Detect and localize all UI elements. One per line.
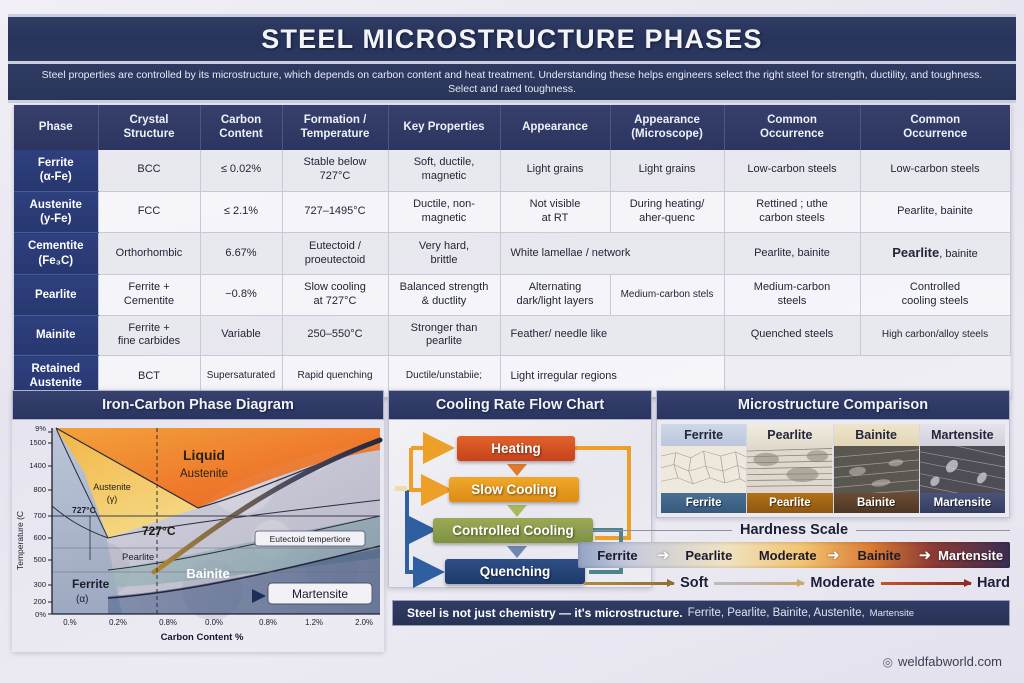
label-eutectoid-box: Eutectoid tempertiore	[255, 531, 365, 546]
cell-appearance: Not visible at RT	[500, 191, 610, 233]
table-row: Pearlite Ferrite +Cementite −0.8% Slow c…	[14, 275, 1010, 316]
hardness-scale: Hardness Scale Ferrite ➜ Pearlite Modera…	[578, 522, 1010, 594]
gradient-arrow-soft	[584, 582, 674, 585]
cell-crystal: Ferrite +Cementite	[98, 275, 200, 316]
phase-diagram-svg: 9% 1500 1400 800 700 600 500 300 200 0% …	[12, 420, 384, 652]
arrow-icon-3: ➜	[919, 546, 932, 564]
svg-text:1.2%: 1.2%	[305, 618, 323, 627]
cell-appearance: Feather/ needle like	[500, 315, 724, 356]
infographic-page: STEEL MICROSTRUCTURE PHASES Steel proper…	[0, 0, 1024, 683]
footer-phase-last: Martensite	[870, 608, 914, 619]
cell-occurrence-2: Controlled cooling steels	[860, 275, 1010, 316]
label-pearlite: Pearlite	[122, 552, 154, 563]
micro-panel-title: Microstructure Comparison	[656, 390, 1010, 420]
flow-node-slow-cooling[interactable]: Slow Cooling	[449, 477, 579, 502]
watermark: ◎ weldfabworld.com	[882, 654, 1002, 669]
hardness-seg-ferrite: Ferrite	[578, 548, 657, 563]
diagram-panel-title: Iron-Carbon Phase Diagram	[12, 390, 384, 420]
cell-properties: Balanced strength & ductlity	[388, 275, 500, 316]
cell-phase: Austenite (y-Fe)	[14, 191, 98, 233]
flow-node-controlled-cooling[interactable]: Controlled Cooling	[433, 518, 593, 543]
cell-carbon: 6.67%	[200, 233, 282, 275]
micro-cell-pearlite: Pearlite	[747, 424, 833, 513]
flow-panel-title: Cooling Rate Flow Chart	[388, 390, 652, 420]
table-row: Austenite (y-Fe) FCC ≤ 2.1% 727–1495°C D…	[14, 191, 1010, 233]
micro-top-label: Bainite	[834, 424, 919, 446]
hardness-foot-soft: Soft	[680, 575, 708, 591]
cell-phase: Ferrite (α-Fe)	[14, 150, 98, 191]
hardness-scale-title-row: Hardness Scale	[578, 522, 1010, 538]
cell-formation: Eutectoid / proeutectoid	[282, 233, 388, 275]
svg-text:0.8%: 0.8%	[259, 618, 277, 627]
footer-phase-list: Ferrite, Pearlite, Bainite, Austenite,	[688, 607, 865, 619]
cell-appearance: White lamellae / network	[500, 233, 724, 275]
svg-text:500: 500	[33, 555, 46, 564]
svg-text:200: 200	[33, 597, 46, 606]
cell-crystal: FCC	[98, 191, 200, 233]
label-ferrite-alpha: (α)	[76, 594, 88, 605]
label-727-left: 727°C	[72, 505, 96, 515]
hardness-gradient-bar: Ferrite ➜ Pearlite Moderate ➜ Bainite ➜ …	[578, 542, 1010, 568]
col-header-appearance-microscope: Appearance (Microscope)	[610, 105, 724, 150]
cell-crystal: BCC	[98, 150, 200, 191]
micro-grid: Ferrite Ferrite	[656, 420, 1010, 518]
svg-text:300: 300	[33, 580, 46, 589]
micro-cell-martensite: Martensite M	[920, 424, 1005, 513]
flow-node-heating[interactable]: Heating	[457, 436, 575, 461]
page-title: STEEL MICROSTRUCTURE PHASES	[261, 24, 762, 55]
svg-text:0.2%: 0.2%	[109, 618, 127, 627]
svg-text:2.0%: 2.0%	[355, 618, 373, 627]
cell-crystal: Orthorhombic	[98, 233, 200, 275]
cell-occurrence-2: Pearlite, bainite	[860, 191, 1010, 233]
cell-formation: 727–1495°C	[282, 191, 388, 233]
svg-text:800: 800	[33, 485, 46, 494]
x-axis-title: Carbon Content %	[161, 632, 244, 643]
label-austenite: Austenite	[93, 482, 131, 492]
y-axis-title: Temperature (C	[15, 511, 25, 570]
watermark-text: weldfabworld.com	[898, 654, 1002, 669]
table-row: Cementite (Fe₃C) Orthorhombic 6.67% Eute…	[14, 233, 1010, 275]
micro-bottom-label: Bainite	[834, 493, 919, 513]
micro-top-label: Ferrite	[661, 424, 746, 446]
cell-occurrence-1: Pearlite, bainite	[724, 233, 860, 275]
micro-bottom-label: Ferrite	[661, 493, 746, 513]
cell-carbon: ≤ 2.1%	[200, 191, 282, 233]
hardness-seg-moderate: Moderate	[748, 548, 827, 563]
at-icon: ◎	[882, 655, 892, 669]
hardness-seg-bainite: Bainite	[840, 548, 919, 563]
svg-text:9%: 9%	[35, 424, 46, 433]
hardness-foot-moderate: Moderate	[810, 575, 874, 591]
cell-occurrence-2: High carbon/alloy steels	[860, 315, 1010, 356]
footer-strong-text: Steel is not just chemistry — it's micro…	[407, 606, 683, 620]
hardness-foot-row: Soft Moderate Hard	[578, 572, 1010, 594]
gradient-arrow-hard	[881, 582, 971, 585]
rule-right	[856, 530, 1010, 531]
cell-occurrence-1: Rettined ; uthe carbon steels	[724, 191, 860, 233]
micro-image-pearlite	[747, 446, 832, 493]
cell-phase: Cementite (Fe₃C)	[14, 233, 98, 275]
cell-properties: Ductile, non- magnetic	[388, 191, 500, 233]
micro-cell-bainite: Bainite Bain	[834, 424, 920, 513]
arrow-icon-1: ➜	[657, 546, 670, 564]
phase-comparison-table: Phase Crystal Structure Carbon Content F…	[14, 105, 1011, 398]
cell-properties: Very hard, brittle	[388, 233, 500, 275]
hardness-foot-hard: Hard	[977, 575, 1010, 591]
col-header-appearance: Appearance	[500, 105, 610, 150]
col-header-formation-temperature: Formation / Temperature	[282, 105, 388, 150]
iron-carbon-diagram-panel: Iron-Carbon Phase Diagram	[12, 390, 384, 652]
table-header-row: Phase Crystal Structure Carbon Content F…	[14, 105, 1010, 150]
svg-text:1400: 1400	[29, 461, 46, 470]
cell-appearance: Alternating dark/light layers	[500, 275, 610, 316]
micro-image-ferrite	[661, 446, 746, 493]
cell-carbon: ≤ 0.02%	[200, 150, 282, 191]
cell-occurrence-1: Quenched steels	[724, 315, 860, 356]
micro-top-label: Martensite	[920, 424, 1005, 446]
cell-formation: Stable below 727°C	[282, 150, 388, 191]
col-header-carbon-content: Carbon Content	[200, 105, 282, 150]
cell-occurrence-2: Pearlite, bainite	[860, 233, 1010, 275]
page-title-band: STEEL MICROSTRUCTURE PHASES	[8, 14, 1016, 64]
page-subtitle: Steel properties are controlled by its m…	[30, 68, 994, 96]
microstructure-comparison-panel: Microstructure Comparison Ferrite	[656, 390, 1010, 518]
svg-text:1500: 1500	[29, 438, 46, 447]
cell-carbon: −0.8%	[200, 275, 282, 316]
label-martensite: Martensite	[292, 587, 348, 601]
col-header-common-occurrence-2: Common Occurrence	[860, 105, 1010, 150]
label-liquid: Liquid	[183, 447, 225, 463]
cell-occurrence-1: Medium-carbon steels	[724, 275, 860, 316]
col-header-phase: Phase	[14, 105, 98, 150]
micro-bottom-label: Martensite	[920, 493, 1005, 513]
cell-phase: Mainite	[14, 315, 98, 356]
svg-text:0.%: 0.%	[63, 618, 77, 627]
cell-occurrence-2: Low-carbon steels	[860, 150, 1010, 191]
table-row: Mainite Ferrite +fine carbides Variable …	[14, 315, 1010, 356]
cell-phase: Pearlite	[14, 275, 98, 316]
gradient-arrow-moderate	[714, 582, 804, 585]
micro-image-martensite	[920, 446, 1005, 493]
cell-appearance: Light grains	[500, 150, 610, 191]
svg-text:700: 700	[33, 511, 46, 520]
label-eutectoid-temp: Eutectoid tempertiore	[270, 534, 351, 544]
svg-text:0.8%: 0.8%	[159, 618, 177, 627]
rule-left	[578, 530, 732, 531]
micro-top-label: Pearlite	[747, 424, 832, 446]
x-tick-labels: 0.% 0.2% 0.8% 0.0% 0.8% 1.2% 2.0%	[63, 618, 373, 627]
cell-crystal: Ferrite +fine carbides	[98, 315, 200, 356]
cell-formation: Slow cooling at 727°C	[282, 275, 388, 316]
label-727-center: 727°C	[142, 524, 176, 538]
hardness-scale-title: Hardness Scale	[740, 522, 848, 538]
label-austenite-gamma: (γ)	[107, 494, 118, 504]
cell-properties: Stronger than pearlite	[388, 315, 500, 356]
hardness-seg-pearlite: Pearlite	[669, 548, 748, 563]
page-subtitle-band: Steel properties are controlled by its m…	[8, 64, 1016, 103]
y-tick-labels: 9% 1500 1400 800 700 600 500 300 200 0%	[29, 424, 46, 619]
cell-formation: 250–550°C	[282, 315, 388, 356]
col-header-crystal-structure: Crystal Structure	[98, 105, 200, 150]
svg-text:600: 600	[33, 533, 46, 542]
cell-appearance-microscope: Light grains	[610, 150, 724, 191]
svg-text:0.0%: 0.0%	[205, 618, 223, 627]
hardness-seg-martensite: Martensite	[931, 548, 1010, 563]
cell-appearance-microscope: During heating/ aher-quenc	[610, 191, 724, 233]
label-ferrite: Ferrite	[72, 577, 110, 591]
micro-bottom-label: Pearlite	[747, 493, 832, 513]
cell-properties: Soft, ductile, magnetic	[388, 150, 500, 191]
label-liquid-austenite: Austenite	[180, 468, 228, 480]
flow-node-quenching[interactable]: Quenching	[445, 559, 585, 584]
label-martensite-box: Martensite	[268, 583, 372, 604]
label-bainite: Bainite	[186, 566, 229, 581]
col-header-key-properties: Key Properties	[388, 105, 500, 150]
footer-banner: Steel is not just chemistry — it's micro…	[392, 600, 1010, 626]
phase-diagram: 9% 1500 1400 800 700 600 500 300 200 0% …	[12, 420, 384, 652]
svg-text:0%: 0%	[35, 610, 46, 619]
micro-cell-ferrite: Ferrite Ferrite	[661, 424, 747, 513]
table-row: Ferrite (α-Fe) BCC ≤ 0.02% Stable below …	[14, 150, 1010, 191]
cell-carbon: Variable	[200, 315, 282, 356]
cell-occurrence-1: Low-carbon steels	[724, 150, 860, 191]
micro-image-bainite	[834, 446, 919, 493]
cell-appearance-microscope: Medium-carbon stels	[610, 275, 724, 316]
col-header-common-occurrence-1: Common Occurrence	[724, 105, 860, 150]
arrow-icon-2: ➜	[827, 546, 840, 564]
